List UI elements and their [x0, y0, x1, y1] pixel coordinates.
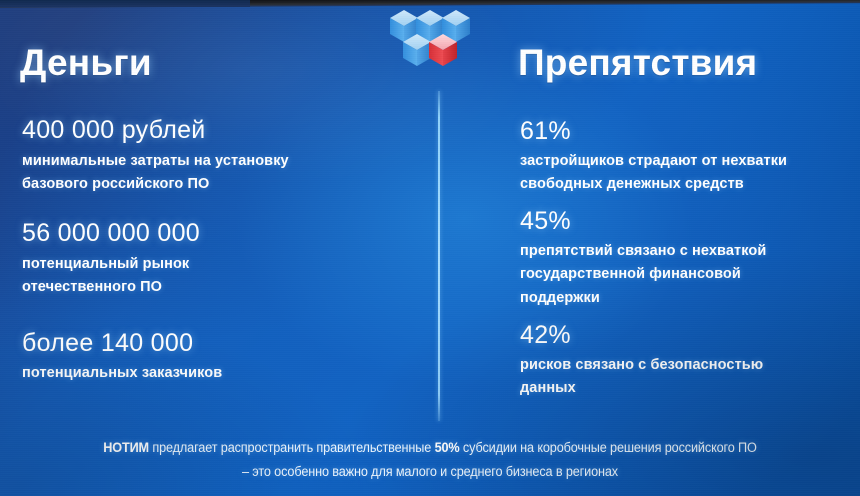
presentation-slide: Деньги 400 000 рублей минимальные затрат…	[0, 0, 860, 496]
stat-block-obstacle-2: 45% препятствий связано с нехваткой госу…	[520, 208, 848, 310]
stat-block-money-1: 400 000 рублей минимальные затраты на ус…	[22, 117, 418, 196]
footer-line-1: НОТИМ предлагает распространить правител…	[52, 436, 808, 460]
stat-value: более 140 000	[22, 330, 418, 358]
stat-description-line: базового российского ПО	[22, 173, 418, 196]
slide-footer: НОТИМ предлагает распространить правител…	[0, 436, 860, 483]
footer-line-2: – это особенно важно для малого и средне…	[52, 460, 808, 484]
right-column: Препятствия 61% застройщиков страдают от…	[518, 44, 848, 401]
stat-block-money-2: 56 000 000 000 потенциальный рынок отече…	[22, 220, 418, 299]
stat-description-line: свободных денежных средств	[520, 173, 848, 196]
stat-description-line: препятствий связано с нехваткой	[520, 240, 848, 263]
stat-description-line: застройщиков страдают от нехватки	[520, 150, 848, 173]
stat-description-line: поддержки	[520, 287, 848, 310]
left-column: Деньги 400 000 рублей минимальные затрат…	[18, 44, 418, 386]
right-column-title: Препятствия	[518, 44, 848, 81]
stat-description-line: рисков связано с безопасностью	[520, 354, 848, 377]
stat-description-line: отечественного ПО	[22, 276, 418, 299]
footer-text-b: субсидии на коробочные решения российско…	[460, 440, 757, 455]
screen-bezel-top-left	[0, 0, 250, 7]
footer-org-name: НОТИМ	[103, 440, 149, 455]
stat-value: 42%	[520, 322, 848, 350]
stat-description-line: данных	[520, 377, 848, 400]
stat-value: 56 000 000 000	[22, 220, 418, 248]
stat-block-obstacle-1: 61% застройщиков страдают от нехватки св…	[520, 118, 848, 196]
stat-block-obstacle-3: 42% рисков связано с безопасностью данны…	[520, 322, 848, 400]
footer-text-a: предлагает распространить правительствен…	[149, 440, 435, 455]
left-column-title: Деньги	[20, 44, 418, 81]
column-divider	[438, 91, 440, 421]
stat-description-line: минимальные затраты на установку	[22, 150, 418, 173]
stat-description-line: потенциальных заказчиков	[22, 362, 418, 385]
stat-description-line: государственной финансовой	[520, 263, 848, 286]
stat-description-line: потенциальный рынок	[22, 253, 418, 276]
stat-block-money-3: более 140 000 потенциальных заказчиков	[22, 330, 418, 386]
stat-value: 61%	[520, 118, 848, 146]
stat-value: 400 000 рублей	[22, 117, 418, 145]
stat-value: 45%	[520, 208, 848, 236]
footer-subsidy-percent: 50%	[435, 440, 460, 455]
